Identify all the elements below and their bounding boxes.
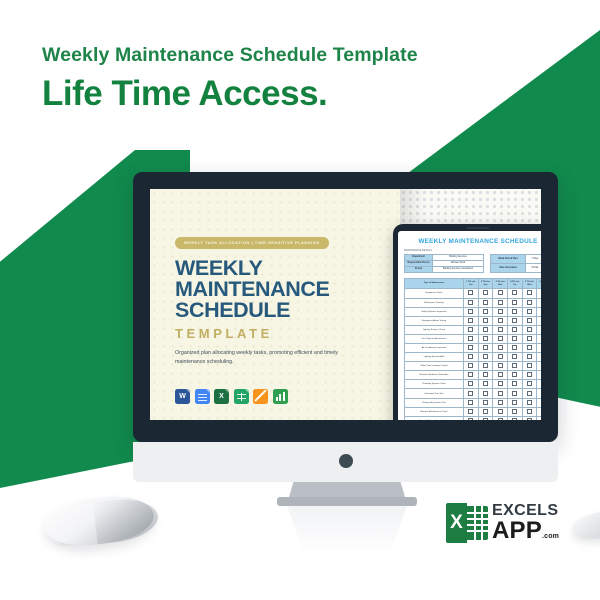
checkbox-icon[interactable] (512, 345, 517, 350)
cover-title-line-2: MAINTENANCE (175, 279, 388, 300)
computer-mouse-secondary (570, 507, 600, 543)
checkbox-icon[interactable] (468, 336, 473, 341)
monitor-screen: WEEKLY TASK ALLOCATION | TIME-SENSITIVE … (150, 189, 541, 420)
checkbox-cell[interactable] (478, 416, 493, 420)
logo-grid-icon (467, 506, 488, 540)
excel-icon: X (214, 389, 229, 404)
maintenance-type-cell: Elevator Maintenance Check (405, 407, 464, 416)
info-key: Week Period Plan (491, 254, 526, 263)
checkbox-cell[interactable] (507, 407, 522, 416)
spreadsheet-info-row: DepartmentBuilding ServicesResponsible P… (404, 254, 541, 274)
checkbox-icon[interactable] (527, 363, 532, 368)
checkbox-icon[interactable] (512, 381, 517, 386)
checkbox-cell[interactable] (493, 334, 508, 343)
checkbox-icon[interactable] (468, 309, 473, 314)
checkbox-icon[interactable] (468, 372, 473, 377)
checkbox-icon[interactable] (468, 345, 473, 350)
table-row: Equipment Check (405, 289, 542, 298)
checkbox-icon[interactable] (527, 300, 532, 305)
table-row: Elevator Maintenance Check (405, 407, 542, 416)
table-row: Emergency Alarm Testing (405, 316, 542, 325)
grid-col-header: 2 TH slotSun (478, 279, 493, 289)
checkbox-icon[interactable] (512, 418, 517, 420)
checkbox-cell[interactable] (464, 307, 479, 316)
headline-block: Weekly Maintenance Schedule Template Lif… (42, 44, 418, 115)
checkbox-icon[interactable] (527, 309, 532, 314)
poster-canvas: Weekly Maintenance Schedule Template Lif… (0, 0, 600, 600)
headline-title: Life Time Access. (42, 73, 418, 114)
checkbox-icon[interactable] (527, 381, 532, 386)
grid-col-header: 1 TH slotSat (464, 279, 479, 289)
checkbox-cell[interactable] (478, 334, 493, 343)
grid-col-header: Type of Maintenance (405, 279, 464, 289)
maintenance-grid: Type of Maintenance1 TH slotSat2 TH slot… (404, 278, 541, 420)
checkbox-icon[interactable] (527, 409, 532, 414)
table-row: Air Conditioner Inspection (405, 344, 542, 353)
checkbox-icon[interactable] (498, 400, 503, 405)
numbers-chart-icon (273, 389, 288, 404)
checkbox-icon[interactable] (498, 354, 503, 359)
checkbox-cell[interactable] (537, 334, 541, 343)
checkbox-cell[interactable] (507, 416, 522, 420)
checkbox-cell[interactable] (493, 353, 508, 362)
logo-wordmark: EXCELS APP.com (492, 503, 559, 543)
checkbox-icon[interactable] (512, 372, 517, 377)
checkbox-icon[interactable] (468, 381, 473, 386)
computer-mouse (42, 491, 157, 550)
checkbox-icon[interactable] (527, 391, 532, 396)
checkbox-cell[interactable] (537, 344, 541, 353)
checkbox-icon[interactable] (483, 381, 488, 386)
tablet-screen: WEEKLY MAINTENANCE SCHEDULE MAINTENANCE … (398, 231, 541, 420)
info-row: Date Generated10 Mar (491, 263, 542, 272)
checkbox-cell[interactable] (493, 371, 508, 380)
checkbox-icon[interactable] (483, 372, 488, 377)
cover-template-word: TEMPLATE (175, 326, 388, 341)
maintenance-type-cell: Parking Bay System Test (405, 398, 464, 407)
maintenance-type-cell: Safety Systems Inspection (405, 307, 464, 316)
table-row: Workspace Cleaning (405, 298, 542, 307)
brand-logo: X EXCELS APP.com (446, 503, 559, 543)
checkbox-cell[interactable] (478, 353, 493, 362)
table-row: Duct System Maintenance (405, 334, 542, 343)
google-docs-icon (195, 389, 210, 404)
checkbox-icon[interactable] (498, 391, 503, 396)
checkbox-cell[interactable] (537, 353, 541, 362)
checkbox-cell[interactable] (493, 307, 508, 316)
checkbox-icon[interactable] (512, 409, 517, 414)
checkbox-cell[interactable] (522, 398, 537, 407)
tablet-speaker (467, 227, 489, 230)
checkbox-cell[interactable] (464, 298, 479, 307)
checkbox-cell[interactable] (478, 380, 493, 389)
checkbox-cell[interactable] (522, 307, 537, 316)
checkbox-cell[interactable] (478, 407, 493, 416)
checkbox-cell[interactable] (537, 416, 541, 420)
table-row: Safety Systems Inspection (405, 307, 542, 316)
maintenance-type-cell: Water Tank Leakage Control (405, 362, 464, 371)
checkbox-cell[interactable] (537, 398, 541, 407)
checkbox-icon[interactable] (512, 318, 517, 323)
checkbox-cell[interactable] (537, 407, 541, 416)
checkbox-icon[interactable] (483, 400, 488, 405)
checkbox-cell[interactable] (537, 380, 541, 389)
checkbox-cell[interactable] (464, 353, 479, 362)
checkbox-icon[interactable] (483, 354, 488, 359)
checkbox-cell[interactable] (507, 398, 522, 407)
checkbox-icon[interactable] (483, 418, 488, 420)
checkbox-cell[interactable] (522, 380, 537, 389)
info-value: Building Services Coordinator (433, 266, 484, 272)
checkbox-icon[interactable] (483, 318, 488, 323)
checkbox-icon[interactable] (468, 418, 473, 420)
checkbox-cell[interactable] (464, 289, 479, 298)
monitor-camera-dot (339, 454, 353, 468)
checkbox-icon[interactable] (527, 336, 532, 341)
maintenance-type-cell: Duct System Maintenance (405, 334, 464, 343)
cover-title: WEEKLY MAINTENANCE SCHEDULE (175, 258, 388, 321)
checkbox-cell[interactable] (478, 398, 493, 407)
checkbox-cell[interactable] (493, 398, 508, 407)
maintenance-type-cell: Generator Fuel Test (405, 389, 464, 398)
maintenance-type-cell: Lighting System Audit (405, 353, 464, 362)
checkbox-cell[interactable] (478, 307, 493, 316)
checkbox-icon[interactable] (512, 300, 517, 305)
checkbox-cell[interactable] (522, 362, 537, 371)
checkbox-icon[interactable] (512, 290, 517, 295)
grid-header-row: Type of Maintenance1 TH slotSat2 TH slot… (405, 279, 542, 289)
spreadsheet: WEEKLY MAINTENANCE SCHEDULE MAINTENANCE … (398, 231, 541, 420)
checkbox-icon[interactable] (527, 345, 532, 350)
checkbox-cell[interactable] (522, 298, 537, 307)
checkbox-icon[interactable] (498, 300, 503, 305)
checkbox-cell[interactable] (493, 389, 508, 398)
checkbox-icon[interactable] (527, 318, 532, 323)
checkbox-cell[interactable] (522, 289, 537, 298)
checkbox-cell[interactable] (522, 353, 537, 362)
checkbox-cell[interactable] (493, 316, 508, 325)
checkbox-icon[interactable] (512, 400, 517, 405)
checkbox-cell[interactable] (537, 307, 541, 316)
checkbox-cell[interactable] (507, 380, 522, 389)
checkbox-icon[interactable] (498, 345, 503, 350)
cover-description: Organized plan allocating weekly tasks, … (175, 349, 343, 366)
checkbox-icon[interactable] (468, 400, 473, 405)
checkbox-icon[interactable] (512, 309, 517, 314)
headline-subtitle: Weekly Maintenance Schedule Template (42, 44, 418, 67)
monitor-stand-reflection (287, 506, 407, 556)
checkbox-icon[interactable] (527, 354, 532, 359)
checkbox-cell[interactable] (522, 316, 537, 325)
info-table-right: Week Period Plan7 DaysDate Generated10 M… (490, 254, 541, 274)
grid-col-header: 6 TH slotThu (537, 279, 541, 289)
checkbox-cell[interactable] (493, 380, 508, 389)
checkbox-icon[interactable] (468, 290, 473, 295)
checkbox-cell[interactable] (464, 416, 479, 420)
checkbox-cell[interactable] (493, 344, 508, 353)
info-value: 10 Mar (526, 263, 542, 272)
checkbox-cell[interactable] (537, 298, 541, 307)
checkbox-icon[interactable] (498, 336, 503, 341)
checkbox-icon[interactable] (527, 372, 532, 377)
maintenance-type-cell: Emergency Alarm Testing (405, 316, 464, 325)
checkbox-icon[interactable] (468, 409, 473, 414)
grid-col-header: 5 TH slotWed (522, 279, 537, 289)
checkbox-icon[interactable] (498, 309, 503, 314)
logo-suffix: .com (542, 533, 559, 540)
info-key: Date Generated (491, 263, 526, 272)
table-row: Plumbing System Check (405, 380, 542, 389)
template-cover: WEEKLY TASK ALLOCATION | TIME-SENSITIVE … (150, 189, 400, 420)
checkbox-cell[interactable] (507, 334, 522, 343)
tablet-device: WEEKLY MAINTENANCE SCHEDULE MAINTENANCE … (393, 224, 541, 420)
checkbox-cell[interactable] (478, 371, 493, 380)
checkbox-cell[interactable] (478, 298, 493, 307)
checkbox-cell[interactable] (478, 362, 493, 371)
checkbox-icon[interactable] (512, 363, 517, 368)
checkbox-cell[interactable] (522, 344, 537, 353)
info-table-left: DepartmentBuilding ServicesResponsible P… (404, 254, 484, 274)
checkbox-cell[interactable] (478, 289, 493, 298)
checkbox-cell[interactable] (464, 325, 479, 334)
checkbox-cell[interactable] (507, 389, 522, 398)
checkbox-cell[interactable] (493, 407, 508, 416)
checkbox-icon[interactable] (468, 318, 473, 323)
checkbox-cell[interactable] (507, 371, 522, 380)
checkbox-cell[interactable] (537, 316, 541, 325)
checkbox-icon[interactable] (498, 327, 503, 332)
checkbox-icon[interactable] (483, 300, 488, 305)
checkbox-icon[interactable] (468, 300, 473, 305)
grid-col-header: 4 TH slotTue (507, 279, 522, 289)
spreadsheet-section-label: MAINTENANCE DETAILS (404, 249, 541, 252)
checkbox-icon[interactable] (468, 363, 473, 368)
checkbox-icon[interactable] (483, 336, 488, 341)
checkbox-cell[interactable] (507, 289, 522, 298)
checkbox-cell[interactable] (537, 389, 541, 398)
checkbox-icon[interactable] (483, 409, 488, 414)
checkbox-cell[interactable] (507, 325, 522, 334)
checkbox-cell[interactable] (464, 371, 479, 380)
table-row: Parking Bay System Test (405, 398, 542, 407)
table-row: Lighting System Audit (405, 353, 542, 362)
cover-title-line-1: WEEKLY (175, 258, 388, 279)
checkbox-cell[interactable] (478, 389, 493, 398)
checkbox-cell[interactable] (522, 325, 537, 334)
cover-app-icons: W X (175, 389, 288, 404)
checkbox-cell[interactable] (507, 307, 522, 316)
checkbox-icon[interactable] (498, 363, 503, 368)
checkbox-cell[interactable] (507, 298, 522, 307)
checkbox-cell[interactable] (478, 316, 493, 325)
info-row: Week Period Plan7 Days (491, 254, 542, 263)
checkbox-cell[interactable] (464, 398, 479, 407)
info-key: Period (405, 266, 433, 272)
checkbox-cell[interactable] (478, 325, 493, 334)
checkbox-icon[interactable] (512, 391, 517, 396)
cover-title-line-3: SCHEDULE (175, 300, 388, 321)
table-row: Lighting Fixtures Check (405, 325, 542, 334)
checkbox-icon[interactable] (498, 381, 503, 386)
checkbox-icon[interactable] (512, 327, 517, 332)
checkbox-icon[interactable] (498, 372, 503, 377)
checkbox-cell[interactable] (522, 371, 537, 380)
checkbox-cell[interactable] (493, 298, 508, 307)
checkbox-icon[interactable] (498, 290, 503, 295)
checkbox-icon[interactable] (498, 318, 503, 323)
checkbox-cell[interactable] (464, 380, 479, 389)
checkbox-icon[interactable] (512, 336, 517, 341)
maintenance-type-cell: Plumbing System Check (405, 380, 464, 389)
checkbox-cell[interactable] (464, 407, 479, 416)
logo-text-app: APP.com (492, 519, 559, 543)
checkbox-cell[interactable] (507, 353, 522, 362)
maintenance-type-cell: Lighting Fixtures Check (405, 325, 464, 334)
table-row: Security Camera Functionality (405, 416, 542, 420)
checkbox-icon[interactable] (527, 418, 532, 420)
checkbox-icon[interactable] (483, 290, 488, 295)
info-row: PeriodBuilding Services Coordinator (405, 266, 484, 272)
checkbox-cell[interactable] (493, 416, 508, 420)
checkbox-icon[interactable] (498, 409, 503, 414)
checkbox-cell[interactable] (537, 371, 541, 380)
table-row: Water Tank Leakage Control (405, 362, 542, 371)
checkbox-cell[interactable] (522, 407, 537, 416)
checkbox-cell[interactable] (464, 316, 479, 325)
checkbox-icon[interactable] (512, 354, 517, 359)
checkbox-icon[interactable] (483, 309, 488, 314)
monitor-stand-foot (277, 497, 417, 506)
cover-badge: WEEKLY TASK ALLOCATION | TIME-SENSITIVE … (175, 237, 329, 249)
checkbox-icon[interactable] (483, 345, 488, 350)
checkbox-cell[interactable] (522, 389, 537, 398)
checkbox-icon[interactable] (483, 391, 488, 396)
checkbox-cell[interactable] (537, 362, 541, 371)
checkbox-icon[interactable] (468, 354, 473, 359)
maintenance-type-cell: Security Camera Functionality (405, 416, 464, 420)
checkbox-cell[interactable] (478, 344, 493, 353)
excel-logo-mark: X (446, 503, 488, 543)
checkbox-cell[interactable] (507, 362, 522, 371)
checkbox-icon[interactable] (468, 391, 473, 396)
maintenance-type-cell: Network Hardware Verification (405, 371, 464, 380)
logo-letter-x: X (446, 503, 467, 543)
info-value: 7 Days (526, 254, 542, 263)
checkbox-cell[interactable] (464, 389, 479, 398)
checkbox-cell[interactable] (464, 344, 479, 353)
checkbox-icon[interactable] (527, 327, 532, 332)
maintenance-type-cell: Workspace Cleaning (405, 298, 464, 307)
checkbox-cell[interactable] (464, 362, 479, 371)
checkbox-cell[interactable] (507, 316, 522, 325)
checkbox-icon[interactable] (527, 290, 532, 295)
desktop-monitor: WEEKLY TASK ALLOCATION | TIME-SENSITIVE … (133, 172, 558, 442)
checkbox-cell[interactable] (522, 416, 537, 420)
checkbox-cell[interactable] (493, 289, 508, 298)
checkbox-icon[interactable] (468, 327, 473, 332)
table-row: Network Hardware Verification (405, 371, 542, 380)
checkbox-icon[interactable] (483, 363, 488, 368)
checkbox-cell[interactable] (537, 289, 541, 298)
spreadsheet-title: WEEKLY MAINTENANCE SCHEDULE (404, 238, 541, 245)
checkbox-cell[interactable] (522, 334, 537, 343)
logo-app-word: APP (492, 517, 542, 544)
checkbox-icon[interactable] (527, 400, 532, 405)
checkbox-icon[interactable] (498, 418, 503, 420)
checkbox-cell[interactable] (464, 334, 479, 343)
maintenance-type-cell: Equipment Check (405, 289, 464, 298)
illustrator-pencil-icon (253, 389, 268, 404)
checkbox-cell[interactable] (507, 344, 522, 353)
table-row: Generator Fuel Test (405, 389, 542, 398)
grid-col-header: 3 TH slotMon (493, 279, 508, 289)
google-sheets-icon (234, 389, 249, 404)
checkbox-icon[interactable] (483, 327, 488, 332)
checkbox-cell[interactable] (537, 325, 541, 334)
checkbox-cell[interactable] (493, 362, 508, 371)
maintenance-type-cell: Air Conditioner Inspection (405, 344, 464, 353)
word-icon: W (175, 389, 190, 404)
checkbox-cell[interactable] (493, 325, 508, 334)
